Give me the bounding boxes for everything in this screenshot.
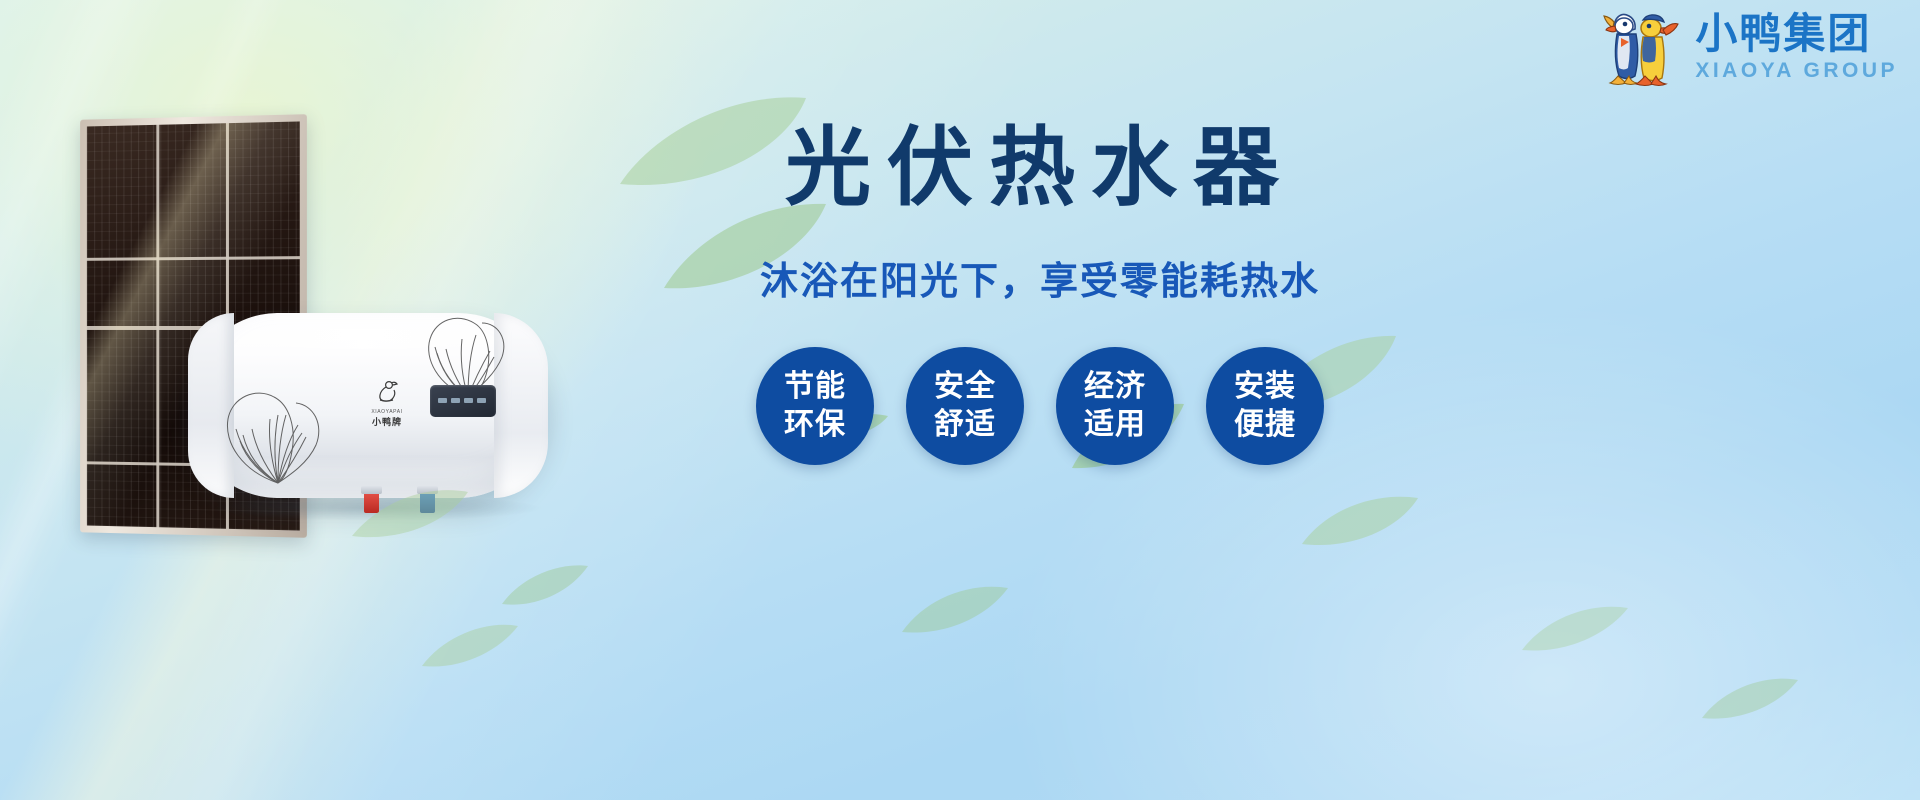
tank-brand-plate: XIAOYAPAI 小鸭牌 bbox=[356, 379, 418, 428]
brand-name-cn: 小鸭集团 bbox=[1695, 13, 1898, 55]
green-leaf-icon bbox=[1300, 490, 1420, 555]
feature-line-2: 便捷 bbox=[1234, 406, 1296, 444]
feature-line-2: 适用 bbox=[1084, 406, 1146, 444]
brand-name-en: XIAOYA GROUP bbox=[1695, 60, 1898, 81]
feature-badge-energy-saving[interactable]: 节能 环保 bbox=[756, 347, 874, 465]
feature-line-1: 安装 bbox=[1234, 368, 1296, 406]
green-leaf-icon bbox=[1520, 600, 1630, 661]
feature-badge-installation[interactable]: 安装 便捷 bbox=[1206, 347, 1324, 465]
feature-badge-economy[interactable]: 经济 适用 bbox=[1056, 347, 1174, 465]
promo-banner: 小鸭集团 XIAOYA GROUP bbox=[0, 0, 1920, 800]
electric-water-heater-tank: XIAOYAPAI 小鸭牌 bbox=[188, 313, 548, 498]
green-leaf-icon bbox=[500, 560, 590, 615]
green-leaf-icon bbox=[420, 618, 520, 677]
green-leaf-icon bbox=[1700, 672, 1800, 729]
company-logo[interactable]: 小鸭集团 XIAOYA GROUP bbox=[1599, 4, 1898, 90]
hero-subtitle: 沐浴在阳光下，享受零能耗热水 bbox=[700, 250, 1380, 305]
page-title: 光伏热水器 bbox=[700, 120, 1380, 216]
hot-water-inlet-pipe bbox=[364, 491, 379, 513]
feature-line-1: 经济 bbox=[1084, 368, 1146, 406]
feature-line-2: 环保 bbox=[784, 406, 846, 444]
duck-glyph-icon bbox=[356, 379, 418, 407]
green-leaf-icon bbox=[900, 580, 1010, 643]
cold-water-outlet-pipe bbox=[420, 491, 435, 513]
feature-line-1: 节能 bbox=[784, 368, 846, 406]
feature-badge-safety[interactable]: 安全 舒适 bbox=[906, 347, 1024, 465]
tank-brand-cn: 小鸭牌 bbox=[356, 415, 418, 428]
two-ducks-mascot-icon bbox=[1599, 4, 1685, 90]
hero-content: 光伏热水器 沐浴在阳光下，享受零能耗热水 节能 环保 安全 舒适 经济 适用 安… bbox=[700, 120, 1380, 465]
feature-line-1: 安全 bbox=[934, 368, 996, 406]
feature-line-2: 舒适 bbox=[934, 406, 996, 444]
feature-badge-list: 节能 环保 安全 舒适 经济 适用 安装 便捷 bbox=[700, 347, 1380, 465]
digital-display-panel[interactable] bbox=[430, 385, 496, 417]
